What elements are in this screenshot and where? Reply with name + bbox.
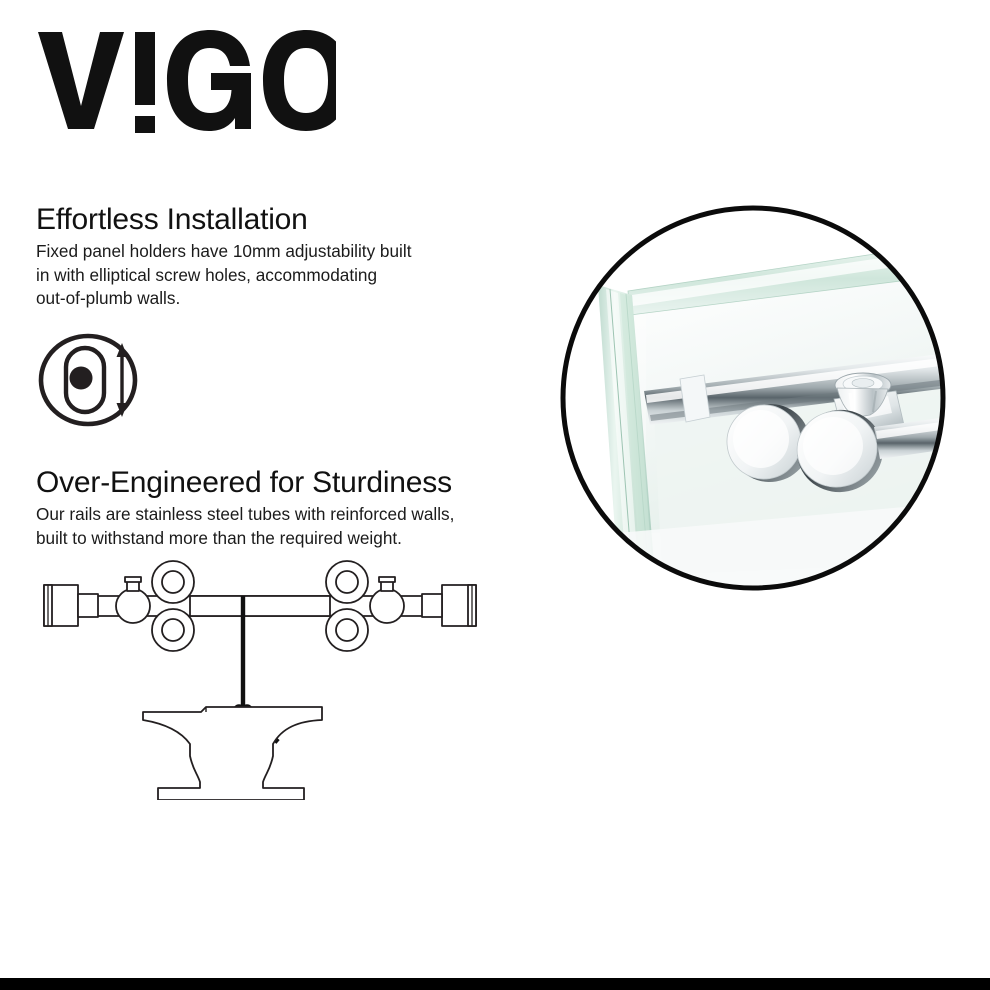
wall-bracket-left — [44, 585, 98, 626]
roller-wheel-left-bottom — [152, 609, 194, 651]
roller-hub-left — [116, 577, 150, 623]
shower-door-roller-closeup — [558, 203, 948, 593]
wall-bracket-right — [422, 585, 476, 626]
feature-body-line: built to withstand more than the require… — [36, 527, 506, 551]
screw-dot — [70, 367, 93, 390]
feature-over-engineered-sturdiness: Over-Engineered for Sturdiness Our rails… — [36, 466, 506, 550]
feature-body-line: out-of-plumb walls. — [36, 287, 506, 311]
feature-effortless-installation: Effortless Installation Fixed panel hold… — [36, 203, 506, 311]
roller-wheel-left-top — [152, 561, 194, 603]
rail-anvil-illustration — [30, 560, 490, 800]
feature-body-line: Fixed panel holders have 10mm adjustabil… — [36, 240, 506, 264]
roller-wheel-right-top — [326, 561, 368, 603]
feature-body-line: in with elliptical screw holes, accommod… — [36, 264, 506, 288]
vertical-adjustability-icon — [36, 330, 152, 430]
roller-hub-right — [370, 577, 404, 623]
roller-wheel-right-bottom — [326, 609, 368, 651]
anvil — [143, 707, 322, 800]
feature-body: Fixed panel holders have 10mm adjustabil… — [36, 240, 506, 311]
feature-heading: Over-Engineered for Sturdiness — [36, 466, 506, 500]
feature-body: Our rails are stainless steel tubes with… — [36, 503, 506, 550]
vigo-logo — [36, 28, 336, 138]
bottom-bar — [0, 978, 990, 990]
feature-body-line: Our rails are stainless steel tubes with… — [36, 503, 506, 527]
feature-heading: Effortless Installation — [36, 203, 506, 237]
